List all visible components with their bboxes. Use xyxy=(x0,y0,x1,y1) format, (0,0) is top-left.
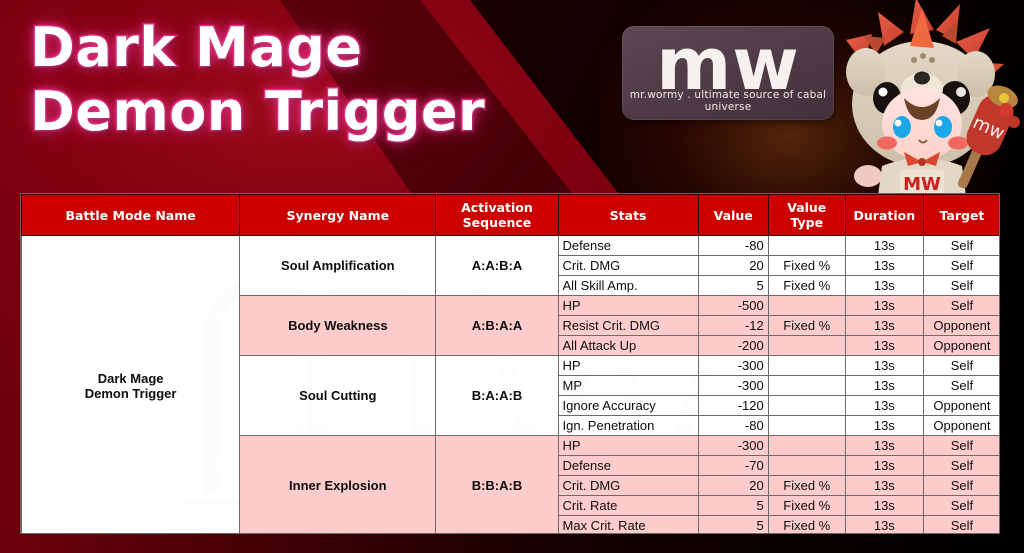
cell-value: -300 xyxy=(698,436,768,456)
cell-value: -80 xyxy=(698,416,768,436)
cell-value-type xyxy=(768,396,845,416)
cell-duration: 13s xyxy=(845,476,923,496)
mascot-eye-left xyxy=(893,116,911,138)
cell-duration: 13s xyxy=(845,456,923,476)
cell-duration: 13s xyxy=(845,496,923,516)
mascot-paw xyxy=(854,165,882,187)
cell-duration: 13s xyxy=(845,316,923,336)
cell-activation-sequence: A:A:B:A xyxy=(436,236,558,296)
cell-stat: Crit. DMG xyxy=(558,476,698,496)
table-row[interactable]: Dark MageDemon TriggerSoul Amplification… xyxy=(22,236,1001,256)
cell-target: Self xyxy=(923,496,1000,516)
col-header-synergy-name[interactable]: Synergy Name xyxy=(240,195,436,236)
cell-target: Self xyxy=(923,376,1000,396)
cell-activation-sequence: A:B:A:A xyxy=(436,296,558,356)
cell-value: -70 xyxy=(698,456,768,476)
col-header-battle-mode-name[interactable]: Battle Mode Name xyxy=(22,195,240,236)
cell-stat: HP xyxy=(558,296,698,316)
cell-value-type: Fixed % xyxy=(768,316,845,336)
cell-target: Opponent xyxy=(923,336,1000,356)
battle-mode-line-1: Dark Mage xyxy=(26,371,235,386)
page-root: Dark Mage Demon Trigger mw mr.wormy . ul… xyxy=(0,0,1024,553)
cell-value-type xyxy=(768,456,845,476)
cell-target: Self xyxy=(923,356,1000,376)
mascot-eye-right xyxy=(934,116,952,138)
page-title-line-2: Demon Trigger xyxy=(30,80,485,144)
cell-stat: All Attack Up xyxy=(558,336,698,356)
cell-value-type xyxy=(768,436,845,456)
mw-logo-tagline: mr.wormy . ultimate source of cabal univ… xyxy=(622,89,834,113)
cell-synergy-name: Inner Explosion xyxy=(240,436,436,535)
cell-value-type xyxy=(768,296,845,316)
cell-value: -500 xyxy=(698,296,768,316)
synergy-table: Battle Mode Name Synergy Name Activation… xyxy=(21,194,1000,534)
mascot-badge-label: MW xyxy=(903,174,941,194)
cell-value: 5 xyxy=(698,516,768,535)
cell-value: -80 xyxy=(698,236,768,256)
cell-stat: Ignore Accuracy xyxy=(558,396,698,416)
cell-value: 20 xyxy=(698,476,768,496)
cell-duration: 13s xyxy=(845,416,923,436)
cell-value-type: Fixed % xyxy=(768,496,845,516)
mascot-bauble-3 xyxy=(999,93,1009,103)
cell-target: Self xyxy=(923,276,1000,296)
cell-duration: 13s xyxy=(845,256,923,276)
page-title: Dark Mage Demon Trigger xyxy=(30,16,485,144)
mascot-character: MW mw xyxy=(824,0,1024,194)
cell-activation-sequence: B:B:A:B xyxy=(436,436,558,535)
cell-duration: 13s xyxy=(845,516,923,535)
cell-value-type xyxy=(768,356,845,376)
cell-stat: Resist Crit. DMG xyxy=(558,316,698,336)
cell-value: 5 xyxy=(698,276,768,296)
cell-value: -120 xyxy=(698,396,768,416)
bottom-band xyxy=(0,534,1024,553)
cell-duration: 13s xyxy=(845,296,923,316)
cell-value-type: Fixed % xyxy=(768,516,845,535)
cell-duration: 13s xyxy=(845,436,923,456)
cell-value: -12 xyxy=(698,316,768,336)
col-header-value-type[interactable]: Value Type xyxy=(768,195,845,236)
cell-target: Opponent xyxy=(923,416,1000,436)
cell-synergy-name: Body Weakness xyxy=(240,296,436,356)
cell-synergy-name: Soul Cutting xyxy=(240,356,436,436)
cell-target: Self xyxy=(923,476,1000,496)
cell-value-type xyxy=(768,336,845,356)
cell-value: 5 xyxy=(698,496,768,516)
cell-battle-mode-name: Dark MageDemon Trigger xyxy=(22,236,240,535)
col-header-activation-sequence[interactable]: Activation Sequence xyxy=(436,195,558,236)
mascot-nose xyxy=(914,72,930,85)
cell-value: -200 xyxy=(698,336,768,356)
cell-target: Opponent xyxy=(923,396,1000,416)
cell-stat: All Skill Amp. xyxy=(558,276,698,296)
cell-stat: MP xyxy=(558,376,698,396)
cell-target: Self xyxy=(923,456,1000,476)
col-header-duration[interactable]: Duration xyxy=(845,195,923,236)
cell-duration: 13s xyxy=(845,356,923,376)
cell-value: 20 xyxy=(698,256,768,276)
table-body: Dark MageDemon TriggerSoul Amplification… xyxy=(22,236,1001,535)
battle-mode-line-2: Demon Trigger xyxy=(26,386,235,401)
cell-stat: Defense xyxy=(558,236,698,256)
mascot-blush-left xyxy=(877,137,897,150)
cell-value-type xyxy=(768,376,845,396)
cell-stat: HP xyxy=(558,356,698,376)
cell-duration: 13s xyxy=(845,376,923,396)
col-header-target[interactable]: Target xyxy=(923,195,1000,236)
cell-stat: Crit. Rate xyxy=(558,496,698,516)
cell-value: -300 xyxy=(698,356,768,376)
cell-duration: 13s xyxy=(845,336,923,356)
cell-stat: HP xyxy=(558,436,698,456)
table-header-row: Battle Mode Name Synergy Name Activation… xyxy=(22,195,1001,236)
cell-value-type: Fixed % xyxy=(768,476,845,496)
cell-target: Self xyxy=(923,256,1000,276)
mascot-bauble-1 xyxy=(999,103,1013,117)
cell-target: Self xyxy=(923,516,1000,535)
mascot-bauble-2 xyxy=(1008,116,1020,128)
cell-value-type: Fixed % xyxy=(768,276,845,296)
cell-target: Self xyxy=(923,436,1000,456)
cell-stat: Crit. DMG xyxy=(558,256,698,276)
cell-duration: 13s xyxy=(845,236,923,256)
mascot-blush-right xyxy=(948,137,968,150)
cell-stat: Defense xyxy=(558,456,698,476)
cell-value-type xyxy=(768,236,845,256)
cell-target: Self xyxy=(923,236,1000,256)
cell-duration: 13s xyxy=(845,276,923,296)
cell-target: Opponent xyxy=(923,316,1000,336)
cell-duration: 13s xyxy=(845,396,923,416)
cell-activation-sequence: B:A:A:B xyxy=(436,356,558,436)
cell-value-type xyxy=(768,416,845,436)
cell-value-type: Fixed % xyxy=(768,256,845,276)
cell-synergy-name: Soul Amplification xyxy=(240,236,436,296)
mw-logo: mw mr.wormy . ultimate source of cabal u… xyxy=(622,26,834,120)
col-header-stats[interactable]: Stats xyxy=(558,195,698,236)
cell-stat: Max Crit. Rate xyxy=(558,516,698,535)
cell-stat: Ign. Penetration xyxy=(558,416,698,436)
col-header-value[interactable]: Value xyxy=(698,195,768,236)
page-title-line-1: Dark Mage xyxy=(30,16,485,80)
cell-value: -300 xyxy=(698,376,768,396)
cell-target: Self xyxy=(923,296,1000,316)
synergy-table-container: mr.wormy . ultimate source of cabal univ… xyxy=(20,193,1000,534)
